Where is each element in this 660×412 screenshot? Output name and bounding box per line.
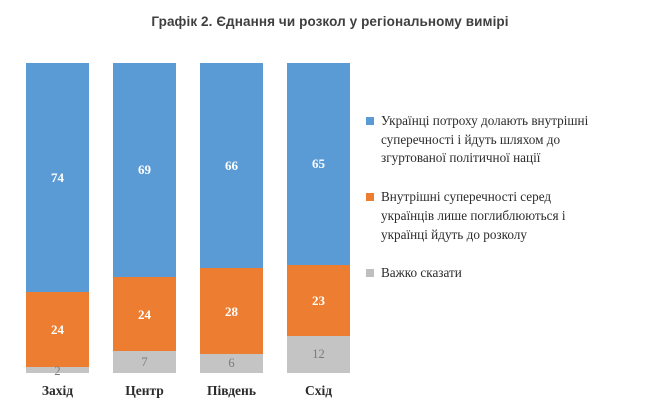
category-label-pivden: Південь — [192, 383, 271, 399]
bar-value-blue: 69 — [138, 163, 151, 176]
bar-segment-blue[interactable]: 65 — [287, 63, 350, 265]
bar-segment-orange[interactable]: 24 — [26, 292, 89, 366]
bar-value-orange: 28 — [225, 305, 238, 318]
legend-label-line: Важко сказати — [381, 264, 654, 283]
bar-value-orange: 24 — [138, 308, 151, 321]
category-label-skhid: Схід — [279, 383, 358, 399]
plot-area: 74 24 2 Захід 69 24 7 — [0, 0, 360, 412]
legend-label-line: згуртованої політичної нації — [381, 149, 654, 168]
bar-value-orange: 23 — [312, 294, 325, 307]
bar-group-pivden[interactable]: 66 28 6 Південь — [200, 0, 263, 412]
bar-segment-blue[interactable]: 74 — [26, 63, 89, 292]
bar-value-gray: 6 — [228, 357, 234, 370]
chart-legend: Українці потроху долають внутрішні супер… — [366, 112, 654, 283]
category-label-tsentr: Центр — [105, 383, 184, 399]
bar-value-blue: 66 — [225, 159, 238, 172]
bar-segment-gray[interactable]: 2 — [26, 367, 89, 373]
legend-label-line: суперечності і йдуть шляхом до — [381, 131, 654, 150]
bar-segment-orange[interactable]: 28 — [200, 268, 263, 355]
bar-segment-gray[interactable]: 7 — [113, 351, 176, 373]
legend-label-line: Українці потроху долають внутрішні — [381, 112, 654, 131]
bar-segment-blue[interactable]: 69 — [113, 63, 176, 277]
legend-label-line: українці йдуть до розколу — [381, 226, 654, 245]
bar-value-gray: 7 — [141, 356, 147, 369]
bar-value-blue: 74 — [51, 171, 64, 184]
bar-segment-gray[interactable]: 6 — [200, 354, 263, 373]
bar-value-gray: 12 — [312, 348, 325, 361]
bar-segment-gray[interactable]: 12 — [287, 336, 350, 373]
chart-container: Графік 2. Єднання чи розкол у регіональн… — [0, 0, 660, 412]
bar-stack: 69 24 7 — [113, 63, 176, 373]
legend-item-hard-to-say[interactable]: Важко сказати — [366, 264, 654, 283]
bar-group-tsentr[interactable]: 69 24 7 Центр — [113, 0, 176, 412]
bar-segment-orange[interactable]: 23 — [287, 265, 350, 336]
category-label-zahid: Захід — [18, 383, 97, 399]
bar-stack: 74 24 2 — [26, 63, 89, 373]
bar-value-gray: 2 — [54, 365, 60, 378]
bar-group-skhid[interactable]: 65 23 12 Схід — [287, 0, 350, 412]
bar-value-orange: 24 — [51, 323, 64, 336]
bar-stack: 66 28 6 — [200, 63, 263, 373]
bar-segment-blue[interactable]: 66 — [200, 63, 263, 268]
legend-swatch-orange-icon — [366, 193, 374, 201]
legend-swatch-blue-icon — [366, 117, 374, 125]
bar-segment-orange[interactable]: 24 — [113, 277, 176, 351]
bar-group-zahid[interactable]: 74 24 2 Захід — [26, 0, 89, 412]
legend-item-unity[interactable]: Українці потроху долають внутрішні супер… — [366, 112, 654, 168]
legend-label-line: українців лише поглиблюються і — [381, 207, 654, 226]
bar-value-blue: 65 — [312, 157, 325, 170]
bar-stack: 65 23 12 — [287, 63, 350, 373]
legend-item-split[interactable]: Внутрішні суперечності серед українців л… — [366, 188, 654, 244]
legend-label-line: Внутрішні суперечності серед — [381, 188, 654, 207]
legend-swatch-gray-icon — [366, 269, 374, 277]
